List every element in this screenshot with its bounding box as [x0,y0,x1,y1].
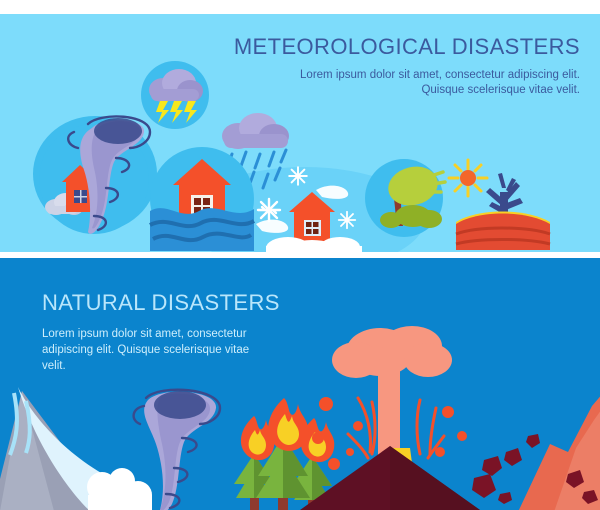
banner-natural: NATURAL DISASTERS Lorem ipsum dolor sit … [0,258,600,510]
drought-icon [440,158,560,252]
banner-top-title: METEOROLOGICAL DISASTERS [234,34,580,60]
banner-top-paragraph: Lorem ipsum dolor sit amet, consectetur … [280,68,580,98]
water-waves-shape [150,208,254,251]
tornado-funnel-shape [144,391,216,510]
blizzard-icon [252,162,372,252]
tornado-icon [34,106,164,241]
infographic-page: METEOROLOGICAL DISASTERS Lorem ipsum dol… [0,0,600,510]
snow-house-shape [289,192,335,244]
banner-bottom-title: NATURAL DISASTERS [42,290,280,316]
cracked-earth-shape [456,212,550,251]
windstorm-icon [361,154,451,244]
volcano-cone-shape [300,446,480,510]
sun-icon [449,160,487,196]
flood-icon [147,145,257,252]
banner-bottom-paragraph: Lorem ipsum dolor sit amet, consectetur … [42,326,257,374]
volcano-icon [296,328,496,510]
banner-meteorological: METEOROLOGICAL DISASTERS Lorem ipsum dol… [0,14,600,252]
landslide-icon [472,386,600,510]
rain-cloud-shape [222,113,289,149]
